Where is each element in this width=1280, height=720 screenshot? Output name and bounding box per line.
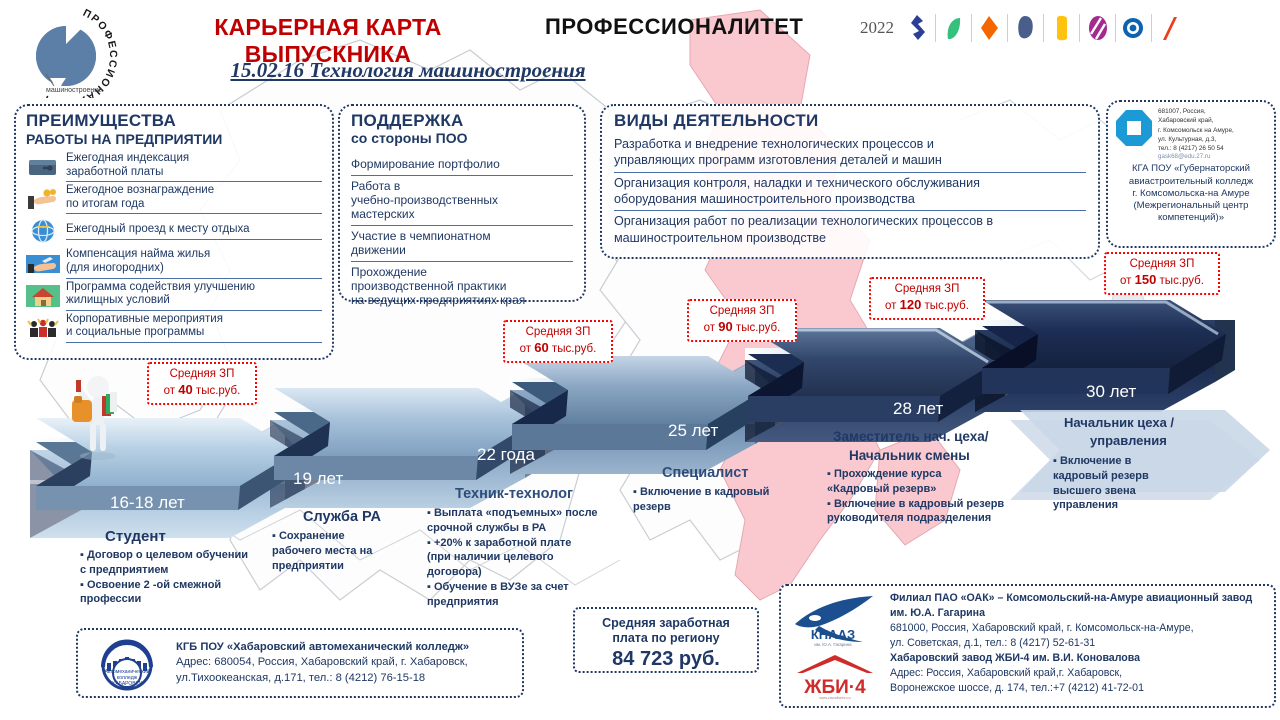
knaaz-logo-icon: КНААЗ им. Ю.А. Гагарина [789, 592, 881, 648]
list-item: Программа содействия улучшениюжилищных у… [26, 280, 322, 312]
list-item: Работа вучебно-производственныхмастерски… [351, 176, 573, 226]
partner-hamk-box: Автомеханический колледж ХАБАРОВСК КГБ П… [76, 628, 524, 698]
svg-text:Автомеханический: Автомеханический [104, 668, 149, 675]
mark-slate-icon [1015, 12, 1036, 44]
bullet: ▪ Сохранение [272, 530, 422, 544]
list-item: Формирование портфолио [351, 154, 573, 175]
bullet: ▪ Договор о целевом обучении [80, 549, 290, 563]
zhbi-name2: Хабаровский завод ЖБИ-4 им. В.И. Коновал… [890, 651, 1252, 666]
hamk-name: КГБ ПОУ «Хабаровский автомеханический ко… [176, 640, 469, 655]
bullet: ▪ Включение в кадровый резерв [827, 498, 1032, 512]
list-item: Ежегодный проезд к месту отдыха [26, 215, 322, 247]
bullets-stage-1: ▪ Договор о целевом обучении с предприят… [80, 549, 290, 608]
age-label-1: 16-18 лет [110, 493, 185, 513]
salary-badge-6: Средняя ЗП от 150 тыс.руб. [1104, 252, 1220, 295]
divider [1079, 14, 1080, 42]
salary-value: 40 [178, 382, 192, 397]
knaaz-wordmark: КНААЗ [811, 627, 855, 642]
mark-yellow-icon [1051, 12, 1072, 44]
bullet: срочной службы в РА [427, 522, 617, 536]
salary-suffix: тыс.руб. [549, 343, 597, 355]
list-item: Разработка и внедрение технологических п… [614, 134, 1086, 173]
list-item: Участие в чемпионатномдвижении [351, 226, 573, 262]
college-email: gask68@edu.27.ru [1158, 153, 1234, 160]
list-item-text: Ежегодное вознаграждениепо итогам года [66, 184, 322, 214]
college-name: КГА ПОУ «Губернаторскийавиастроительный … [1114, 163, 1268, 224]
bullet: «Кадровый резерв» [827, 483, 1032, 497]
avg-line1: Средняя заработная [575, 616, 757, 631]
knaaz-name1b: им. Ю.А. Гагарина [890, 606, 1252, 621]
salary-badge-label: Средняя ЗП [170, 368, 235, 380]
salary-badge-1: Средняя ЗП от 40 тыс.руб. [147, 362, 257, 405]
advantages-title: ПРЕИМУЩЕСТВА [26, 112, 322, 130]
arrow-stage-3 [512, 356, 764, 450]
salary-value: 120 [900, 297, 922, 312]
salary-badge-3: Средняя ЗП от 60 тыс.руб. [503, 320, 613, 363]
support-subtitle: со стороны ПОО [351, 131, 573, 146]
zhbi-line4: Воронежское шоссе, д. 174, тел.:+7 (4212… [890, 681, 1252, 696]
role-title-3: Техник-технолог [455, 486, 573, 502]
arrow-stage-2 [274, 388, 534, 480]
salary-badge-label: Средняя ЗП [895, 283, 960, 295]
hand-coins-icon [26, 186, 60, 212]
salary-suffix: тыс.руб. [733, 322, 781, 334]
bullets-stage-2: ▪ Сохранение рабочего места на предприят… [272, 530, 422, 574]
bullet: (при наличии целевого [427, 551, 617, 565]
infographic-canvas: ПРОФЕССИОНАЛИТЕТ машиностроение КАРЬЕРНА… [0, 0, 1280, 720]
salary-prefix: от [1120, 275, 1135, 287]
list-item-text: Ежегодный проезд к месту отдыха [66, 223, 322, 240]
hamk-line2: Адрес: 680054, Россия, Хабаровский край,… [176, 655, 469, 670]
bullets-stage-5: ▪ Прохождение курса «Кадровый резерв» ▪ … [827, 468, 1032, 527]
avg-line2: плата по региону [575, 631, 757, 646]
svg-text:им. Ю.А. Гагарина: им. Ю.А. Гагарина [814, 642, 852, 647]
college-badge-panel: 681007, Россия,Хабаровский край, г. Комс… [1106, 100, 1276, 248]
svg-text:www.zavodbeton.ru: www.zavodbeton.ru [819, 696, 850, 700]
brand-wordmark: ПРОФЕССИОНАЛИТЕТ [545, 14, 803, 40]
bullets-stage-6: ▪ Включение в кадровый резерв высшего зв… [1053, 455, 1183, 514]
globe-icon [26, 218, 60, 244]
role-title-5b: Начальник смены [849, 448, 970, 463]
support-title: ПОДДЕРЖКА [351, 112, 573, 130]
salary-badge-label: Средняя ЗП [526, 326, 591, 338]
mark-red-icon [1159, 12, 1180, 44]
bullets-stage-4: ▪ Включение в кадровый резерв [633, 486, 793, 516]
salary-prefix: от [164, 385, 179, 397]
student-figure-icon [64, 370, 134, 460]
divider [935, 14, 936, 42]
salary-badge-5: Средняя ЗП от 120 тыс.руб. [869, 277, 985, 320]
bullet: договора) [427, 566, 617, 580]
role-title-6a: Начальник цеха / [1064, 415, 1174, 430]
knaaz-line1: 681000, Россия, Хабаровский край, г. Ком… [890, 621, 1252, 636]
activities-panel: ВИДЫ ДЕЯТЕЛЬНОСТИ Разработка и внедрение… [600, 104, 1100, 259]
bullet: ▪ Освоение 2 -ой смежной [80, 579, 290, 593]
age-label-3: 22 года [477, 445, 535, 465]
mark-orange-icon [979, 12, 1000, 44]
list-item-text: Компенсация найма жилья(для иногородних) [66, 248, 322, 278]
list-item: Организация работ по реализации технолог… [614, 211, 1086, 249]
mark-purple-icon [1087, 12, 1108, 44]
bullet: с предприятием [80, 564, 290, 578]
activities-title: ВИДЫ ДЕЯТЕЛЬНОСТИ [614, 112, 1086, 130]
brand-year: 2022 [860, 18, 894, 38]
support-list: Формирование портфолио Работа вучебно-пр… [351, 154, 573, 311]
list-item: Ежегодная индексациязаработной платы [26, 151, 322, 183]
house-icon [26, 283, 60, 309]
activities-list: Разработка и внедрение технологических п… [614, 134, 1086, 249]
salary-suffix: тыс.руб. [193, 385, 241, 397]
salary-prefix: от [885, 300, 900, 312]
zhbi4-wordmark: ЖБИ·4 [803, 677, 866, 698]
mark-blue-icon [907, 12, 928, 44]
advantages-panel: ПРЕИМУЩЕСТВА РАБОТЫ НА ПРЕДПРИЯТИИ Ежего… [14, 104, 334, 360]
avg-value: 84 723 руб. [575, 648, 757, 671]
salary-prefix: от [520, 343, 535, 355]
brand-mark-strip [900, 8, 1187, 48]
octagon-logo-icon [1114, 107, 1154, 149]
bullet: резерв [633, 501, 793, 515]
role-title-4: Специалист [662, 465, 748, 481]
region-average-salary-box: Средняя заработная плата по региону 84 7… [573, 607, 759, 673]
advantages-subtitle: РАБОТЫ НА ПРЕДПРИЯТИИ [26, 132, 322, 147]
role-title-6b: управления [1090, 433, 1167, 448]
wallet-icon [26, 154, 60, 180]
professionalitet-logo: ПРОФЕССИОНАЛИТЕТ машиностроение [6, 2, 126, 98]
arrow-stage-4 [748, 328, 996, 422]
salary-value: 60 [534, 340, 548, 355]
bullet: управления [1053, 499, 1183, 513]
advantages-list: Ежегодная индексациязаработной платы Еже… [26, 151, 322, 344]
people-icon [26, 315, 60, 341]
salary-badge-label: Средняя ЗП [1130, 258, 1195, 270]
role-title-2: Служба РА [303, 509, 381, 525]
hamk-logo-icon: Автомеханический колледж ХАБАРОВСК [87, 633, 167, 693]
list-item: Компенсация найма жилья(для иногородних) [26, 247, 322, 279]
role-title-1: Студент [105, 528, 166, 545]
bullet: предприятия [427, 596, 617, 610]
role-title-5a: Заместитель нач. цеха/ [833, 429, 989, 444]
salary-suffix: тыс.руб. [921, 300, 969, 312]
page-subtitle: 15.02.16 Технология машиностроения [128, 58, 688, 83]
bullet: профессии [80, 593, 290, 607]
age-label-2: 19 лет [293, 469, 343, 489]
bullet: ▪ Выплата «подъемных» после [427, 507, 617, 521]
mark-eye-icon [1123, 12, 1144, 44]
logo-caption: машиностроение [46, 87, 102, 94]
bullet: кадровый резерв [1053, 470, 1183, 484]
divider [1043, 14, 1044, 42]
bullets-stage-3: ▪ Выплата «подъемных» после срочной служ… [427, 507, 617, 610]
knaaz-name1: Филиал ПАО «ОАК» – Комсомольский-на-Амур… [890, 591, 1252, 606]
partner-knaaz-box: КНААЗ им. Ю.А. Гагарина ЖБИ·4 www.zavodb… [779, 584, 1276, 708]
age-label-4: 25 лет [668, 421, 718, 441]
mark-green-icon [943, 12, 964, 44]
bullet: ▪ Обучение в ВУЗе за счет [427, 581, 617, 595]
list-item-text: Программа содействия улучшениюжилищных у… [66, 281, 322, 311]
bullet: предприятии [272, 560, 422, 574]
bullet: рабочего места на [272, 545, 422, 559]
hand-key-icon [26, 251, 60, 277]
salary-suffix: тыс.руб. [1156, 275, 1204, 287]
support-panel: ПОДДЕРЖКА со стороны ПОО Формирование по… [338, 104, 586, 302]
divider [1007, 14, 1008, 42]
divider [1151, 14, 1152, 42]
hamk-line3: ул.Тихоокеанская, д.171, тел.: 8 (4212) … [176, 671, 469, 686]
list-item-text: Ежегодная индексациязаработной платы [66, 152, 322, 182]
bullet: руководителя подразделения [827, 512, 1032, 526]
bullet: ▪ Включение в кадровый [633, 486, 793, 500]
age-label-5: 28 лет [893, 399, 943, 419]
zhbi-line3: Адрес: Россия, Хабаровский край,г. Хабар… [890, 666, 1252, 681]
svg-text:ХАБАРОВСК: ХАБАРОВСК [112, 681, 142, 687]
bullet: ▪ Включение в [1053, 455, 1183, 469]
knaaz-line2: ул. Советская, д.1, тел.: 8 (4217) 52-61… [890, 636, 1252, 651]
list-item: Организация контроля, наладки и техничес… [614, 173, 1086, 212]
list-item-text: Корпоративные мероприятияи социальные пр… [66, 313, 322, 343]
divider [1115, 14, 1116, 42]
bullet: ▪ Прохождение курса [827, 468, 1032, 482]
salary-badge-label: Средняя ЗП [710, 305, 775, 317]
divider [971, 14, 972, 42]
zhbi4-logo-icon: ЖБИ·4 www.zavodbeton.ru [789, 651, 881, 701]
bullet: высшего звена [1053, 485, 1183, 499]
salary-value: 150 [1135, 272, 1157, 287]
arrow-stage-5 [982, 300, 1226, 394]
bullet: ▪ +20% к заработной плате [427, 537, 617, 551]
salary-prefix: от [704, 322, 719, 334]
list-item: Корпоративные мероприятияи социальные пр… [26, 312, 322, 344]
salary-badge-4: Средняя ЗП от 90 тыс.руб. [687, 299, 797, 342]
list-item: Ежегодное вознаграждениепо итогам года [26, 183, 322, 215]
salary-value: 90 [718, 319, 732, 334]
list-item: Прохождениепроизводственной практикина в… [351, 262, 573, 311]
college-address: 681007, Россия,Хабаровский край, г. Комс… [1158, 107, 1234, 153]
age-label-6: 30 лет [1086, 382, 1136, 402]
